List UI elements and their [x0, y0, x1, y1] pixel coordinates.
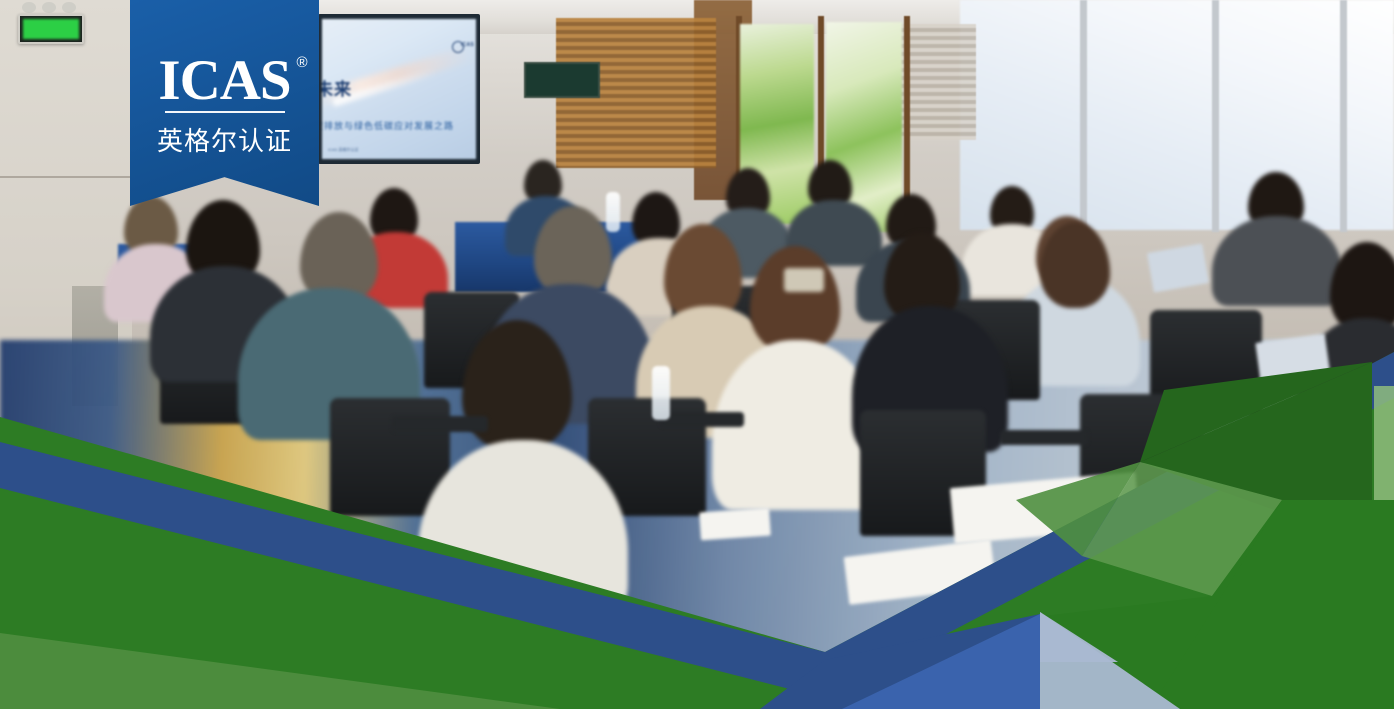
registered-trademark-icon: ®: [297, 56, 307, 70]
window-mullion: [1340, 0, 1347, 232]
logo-divider: [165, 111, 285, 113]
slide-title: 未来: [322, 75, 352, 100]
ceiling-lamp-icon: [22, 2, 36, 13]
window-mullion: [1080, 0, 1087, 232]
projection-screen-frame: ICAS 未来 碳排放与绿色低碳应对发展之路 ICAS 英格尔认证: [318, 14, 480, 164]
water-bottle: [652, 366, 670, 420]
icas-chinese-name: 英格尔认证: [157, 121, 292, 158]
window-mullion: [1212, 0, 1219, 232]
banner-stage: ICAS 未来 碳排放与绿色低碳应对发展之路 ICAS 英格尔认证: [0, 0, 1394, 709]
ceiling-lamp-icon: [42, 2, 56, 13]
wall-trim-line: [0, 176, 132, 178]
wall-monitor: [524, 62, 600, 98]
slide-brand-text: ICAS: [461, 42, 474, 48]
ceiling-lamp-icon: [62, 2, 76, 13]
chair-arm: [1000, 430, 1088, 445]
icas-logo-badge[interactable]: ICAS® 英格尔认证: [130, 0, 319, 206]
exit-sign: [18, 14, 84, 44]
icas-wordmark-text: ICAS: [158, 49, 290, 112]
projection-screen: ICAS 未来 碳排放与绿色低碳应对发展之路 ICAS 英格尔认证: [322, 19, 476, 159]
exit-sign-glow: [23, 19, 79, 39]
chair-arm: [392, 416, 488, 432]
slide-footnote: ICAS 英格尔认证: [328, 147, 358, 153]
handout-paper: [699, 508, 771, 541]
water-bottle: [606, 192, 620, 232]
slide-subtitle: 碳排放与绿色低碳应对发展之路: [322, 119, 454, 132]
icas-wordmark: ICAS®: [158, 54, 290, 108]
chair-arm: [660, 412, 744, 427]
hair-clip-icon: [784, 268, 824, 292]
